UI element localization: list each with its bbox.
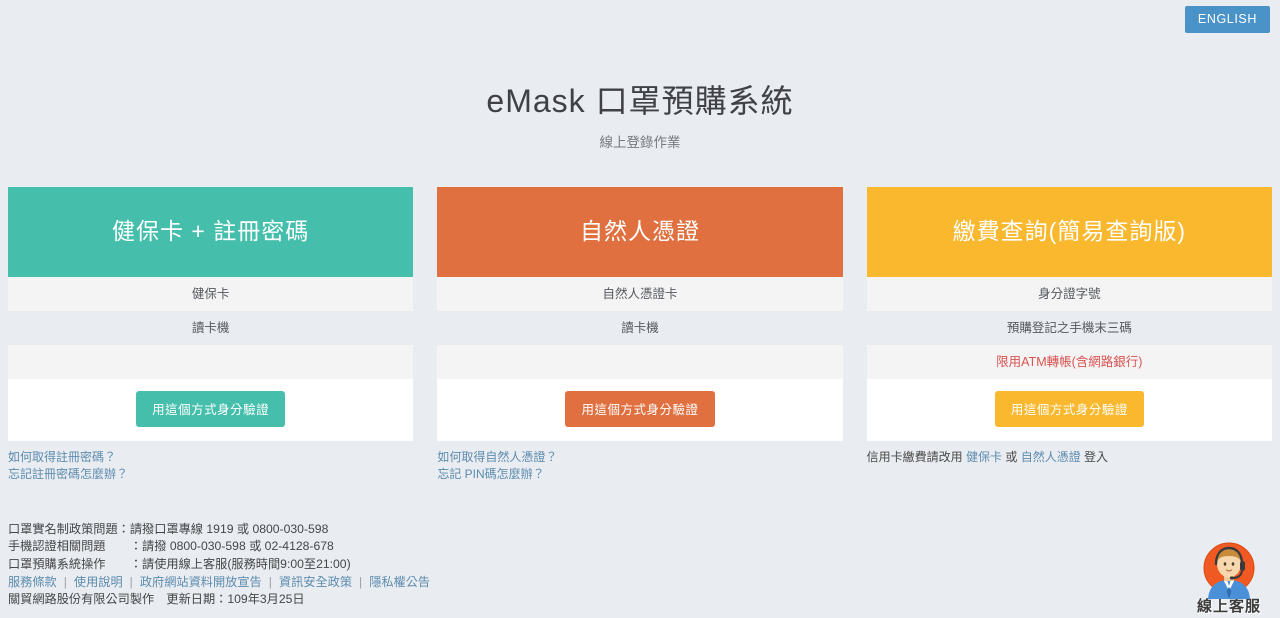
verify-with-nhi-card-password-button[interactable]: 用這個方式身分驗證 bbox=[136, 391, 285, 427]
footer-link-terms-of-service[interactable]: 服務條款 bbox=[8, 575, 57, 589]
page-header: eMask 口罩預購系統 線上登錄作業 bbox=[0, 76, 1280, 151]
footer-link-separator: | bbox=[123, 575, 140, 589]
credit-card-note-suffix: 登入 bbox=[1081, 450, 1108, 464]
footer-contact-mask-policy: 口罩實名制政策問題：請撥口罩專線 1919 或 0800-030-598 bbox=[8, 521, 430, 539]
link-nhi-card[interactable]: 健保卡 bbox=[966, 450, 1002, 464]
footer-link-open-data-declaration[interactable]: 政府網站資料開放宣告 bbox=[140, 575, 262, 589]
link-forgot-pin-code[interactable]: 忘記 PIN碼怎麼辦？ bbox=[437, 467, 544, 481]
live-chat-widget[interactable]: 線上客服 bbox=[1186, 541, 1272, 616]
card-action-area: 用這個方式身分驗證 bbox=[437, 379, 842, 441]
top-bar: ENGLISH bbox=[0, 0, 1280, 38]
card-row-requirement: 身分證字號 bbox=[867, 277, 1272, 311]
footer-links: 服務條款|使用說明|政府網站資料開放宣告|資訊安全政策|隱私權公告 bbox=[8, 574, 430, 592]
headset-agent-avatar-icon bbox=[1198, 541, 1260, 599]
card-action-area: 用這個方式身分驗證 bbox=[8, 379, 413, 441]
footer-contact-mobile-auth: 手機認證相關問題 ：請撥 0800-030-598 或 02-4128-678 bbox=[8, 538, 430, 556]
login-method-cards: 健保卡 + 註冊密碼 健保卡 讀卡機 用這個方式身分驗證 如何取得註冊密碼？ 忘… bbox=[0, 187, 1280, 484]
footer-link-information-security-policy[interactable]: 資訊安全政策 bbox=[279, 575, 352, 589]
card-row-requirement bbox=[8, 345, 413, 379]
card-title-citizen-certificate: 自然人憑證 bbox=[437, 187, 842, 277]
footer-link-separator: | bbox=[352, 575, 369, 589]
card-row-requirement: 健保卡 bbox=[8, 277, 413, 311]
link-citizen-certificate[interactable]: 自然人憑證 bbox=[1021, 450, 1081, 464]
card-nhi-card-password: 健保卡 + 註冊密碼 健保卡 讀卡機 用這個方式身分驗證 如何取得註冊密碼？ 忘… bbox=[8, 187, 413, 484]
card-row-requirement: 讀卡機 bbox=[8, 311, 413, 345]
english-language-button[interactable]: ENGLISH bbox=[1185, 6, 1270, 33]
link-forgot-registration-password[interactable]: 忘記註冊密碼怎麼辦？ bbox=[8, 467, 128, 481]
card-action-area: 用這個方式身分驗證 bbox=[867, 379, 1272, 441]
card-row-requirement: 預購登記之手機末三碼 bbox=[867, 311, 1272, 345]
footer-link-user-guide[interactable]: 使用說明 bbox=[74, 575, 123, 589]
link-how-to-get-registration-password[interactable]: 如何取得註冊密碼？ bbox=[8, 450, 116, 464]
credit-card-note-prefix: 信用卡繳費請改用 bbox=[867, 450, 966, 464]
page-title: eMask 口罩預購系統 bbox=[0, 76, 1280, 122]
card-title-nhi-card-password: 健保卡 + 註冊密碼 bbox=[8, 187, 413, 277]
link-how-to-get-citizen-certificate[interactable]: 如何取得自然人憑證？ bbox=[437, 450, 557, 464]
card-row-requirement: 自然人憑證卡 bbox=[437, 277, 842, 311]
footer-link-separator: | bbox=[57, 575, 74, 589]
card-row-atm-only-warning: 限用ATM轉帳(含網路銀行) bbox=[867, 345, 1272, 379]
page-subtitle: 線上登錄作業 bbox=[0, 131, 1280, 151]
card-title-payment-query: 繳費查詢(簡易查詢版) bbox=[867, 187, 1272, 277]
verify-with-payment-query-button[interactable]: 用這個方式身分驗證 bbox=[995, 391, 1144, 427]
card-help-links: 如何取得自然人憑證？ 忘記 PIN碼怎麼辦？ bbox=[437, 441, 842, 484]
credit-card-note-middle: 或 bbox=[1002, 450, 1021, 464]
footer-credit: 關貿網路股份有限公司製作 更新日期：109年3月25日 bbox=[8, 591, 430, 609]
footer-contact-system-operation: 口罩預購系統操作 ：請使用線上客服(服務時間9:00至21:00) bbox=[8, 556, 430, 574]
footer-link-privacy-notice[interactable]: 隱私權公告 bbox=[369, 575, 430, 589]
card-help-links: 如何取得註冊密碼？ 忘記註冊密碼怎麼辦？ bbox=[8, 441, 413, 484]
card-payment-query: 繳費查詢(簡易查詢版) 身分證字號 預購登記之手機末三碼 限用ATM轉帳(含網路… bbox=[867, 187, 1272, 466]
verify-with-citizen-certificate-button[interactable]: 用這個方式身分驗證 bbox=[565, 391, 714, 427]
footer-link-separator: | bbox=[262, 575, 279, 589]
card-row-requirement: 讀卡機 bbox=[437, 311, 842, 345]
card-row-requirement bbox=[437, 345, 842, 379]
card-help-links: 信用卡繳費請改用 健保卡 或 自然人憑證 登入 bbox=[867, 441, 1272, 466]
footer: 口罩實名制政策問題：請撥口罩專線 1919 或 0800-030-598 手機認… bbox=[8, 521, 430, 609]
card-citizen-certificate: 自然人憑證 自然人憑證卡 讀卡機 用這個方式身分驗證 如何取得自然人憑證？ 忘記… bbox=[437, 187, 842, 484]
